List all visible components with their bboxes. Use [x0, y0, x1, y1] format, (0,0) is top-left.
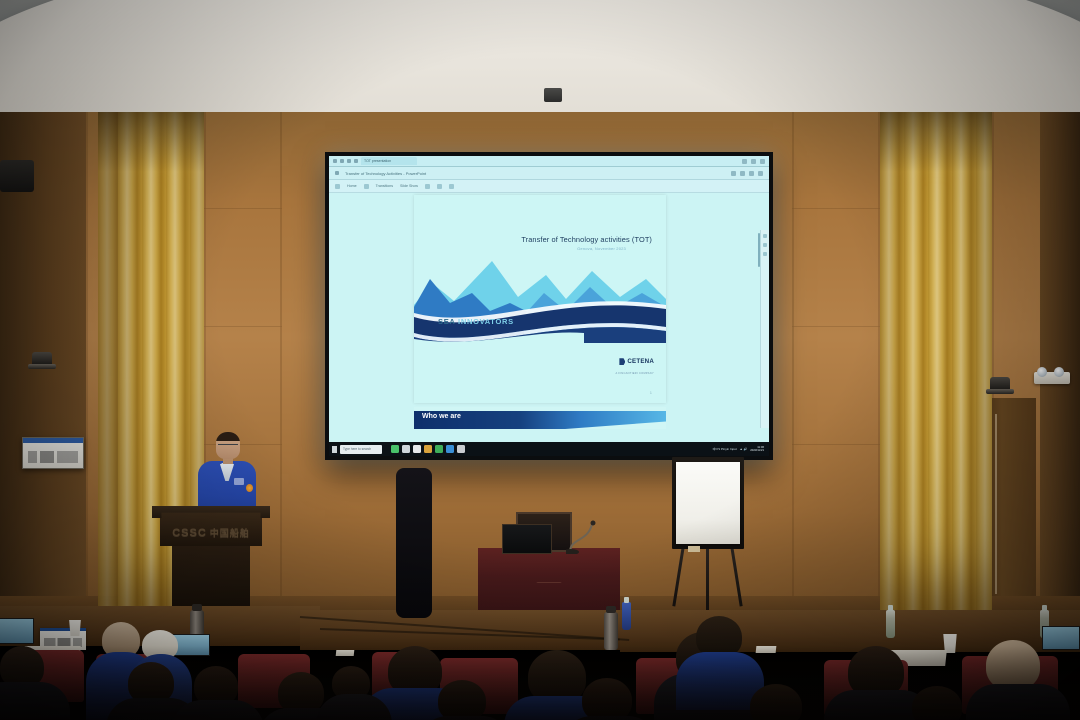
notes-icon[interactable]	[763, 243, 767, 247]
zoom-icon[interactable]	[425, 184, 430, 189]
comments-icon[interactable]	[740, 171, 745, 176]
back-arrow-icon[interactable]	[335, 171, 339, 175]
word-icon[interactable]	[413, 445, 421, 453]
presenter-arm-emblem	[246, 484, 253, 492]
audience-shoulders	[966, 684, 1070, 720]
present-icon[interactable]	[749, 171, 754, 176]
right-tool-rail	[760, 230, 769, 428]
ceiling-projector	[544, 88, 562, 102]
tray-icons[interactable]: ▲ 🔊	[740, 447, 748, 451]
format-icon[interactable]	[449, 184, 454, 189]
mail-icon[interactable]	[424, 445, 432, 453]
chat-icon[interactable]	[457, 445, 465, 453]
wordmark-innovators: INNOVATORS	[458, 317, 514, 326]
window-controls	[742, 159, 765, 164]
flipchart-easel	[668, 457, 748, 607]
taskbar-search-input[interactable]: Type here to search	[340, 445, 382, 454]
presenter-glasses	[218, 444, 238, 448]
window-tab[interactable]: TOT presentation	[361, 157, 417, 165]
audience-head	[750, 684, 802, 720]
slide-editing-area: Transfer of Technology activities (TOT) …	[329, 193, 769, 442]
explorer-icon[interactable]	[391, 445, 399, 453]
wall-notice-text-lines	[28, 451, 78, 463]
slide-wordmark: SEA INNOVATORS	[438, 317, 514, 326]
windows-taskbar: Type here to search 中 P1 Pinyin Input ▲ …	[329, 442, 769, 456]
cetena-logo: CETENA A FINCANTIERI COMPANY	[615, 353, 654, 375]
audience-head	[582, 678, 632, 720]
shapes-icon[interactable]	[437, 184, 442, 189]
taskbar-app-icons	[391, 445, 465, 453]
conference-hall-photo: TOT presentation Transfer of Technology …	[0, 0, 1080, 720]
window-icon	[333, 159, 337, 163]
emergency-lamp-bulb	[1037, 367, 1047, 377]
audience-head	[438, 680, 486, 720]
podium-front-panel: CSSC中国船舶	[160, 512, 262, 546]
powerpoint-icon[interactable]	[402, 445, 410, 453]
start-button-icon[interactable]	[332, 446, 337, 453]
projection-screen: TOT presentation Transfer of Technology …	[325, 152, 773, 460]
water-bottle	[886, 610, 895, 638]
clock-date: 2023/11/21	[750, 448, 764, 452]
audience-area	[0, 588, 1080, 720]
save-icon[interactable]	[347, 159, 351, 163]
wordmark-sea: SEA	[438, 317, 455, 326]
vertical-scrollbar[interactable]	[758, 233, 760, 267]
emergency-light	[1034, 372, 1070, 384]
podium-logo-text: CSSC中国船舶	[160, 526, 262, 539]
curtain-right	[880, 112, 992, 620]
ribbon-toolbar: Home Transitions Slide Show	[329, 180, 769, 193]
curtain-top-shadow	[98, 112, 204, 172]
docbar-actions	[731, 171, 763, 176]
document-title: Transfer of Technology Activities - Powe…	[345, 171, 426, 176]
wall-camera-right	[990, 377, 1010, 390]
ribbon-tab-transitions[interactable]: Transitions	[376, 184, 393, 188]
presenter-pocket-badge	[234, 478, 244, 485]
ribbon-tab-slideshow[interactable]: Slide Show	[400, 184, 418, 188]
wall-notice-frame	[22, 437, 84, 469]
easel-marker-tray	[688, 546, 700, 552]
slide-title: Transfer of Technology activities (TOT)	[414, 235, 652, 244]
file-menu-icon[interactable]	[335, 184, 340, 189]
document-title-bar: Transfer of Technology Activities - Powe…	[329, 167, 769, 180]
media-icon[interactable]	[435, 445, 443, 453]
maximize-button[interactable]	[751, 159, 756, 164]
flipchart-paper	[676, 462, 740, 544]
monitor-front	[502, 524, 552, 554]
share-icon[interactable]	[731, 171, 736, 176]
ime-indicator[interactable]: 中 P1 Pinyin Input	[713, 447, 737, 451]
projected-desktop: TOT presentation Transfer of Technology …	[329, 156, 769, 456]
app-title-bar: TOT presentation	[329, 156, 769, 167]
account-avatar[interactable]	[758, 171, 763, 176]
quick-access-icon	[340, 159, 344, 163]
cetena-name: CETENA	[627, 358, 654, 365]
wall-speaker-cabinet	[0, 160, 34, 192]
laptop-left	[0, 618, 34, 644]
next-slide-title: Who we are	[422, 413, 461, 420]
insert-icon[interactable]	[364, 184, 369, 189]
emergency-lamp-bulb	[1054, 367, 1064, 377]
wave-graphic	[414, 253, 666, 343]
minimize-button[interactable]	[742, 159, 747, 164]
desk-item	[756, 646, 777, 653]
next-slide-preview[interactable]: Who we are	[414, 407, 666, 429]
desk-item	[336, 650, 355, 656]
right-wall-segment	[1040, 112, 1080, 620]
browser-icon[interactable]	[446, 445, 454, 453]
slide-number: 1	[650, 390, 652, 395]
ribbon-tab-home[interactable]: Home	[347, 184, 357, 188]
system-tray: 中 P1 Pinyin Input ▲ 🔊 11:06 2023/11/21	[713, 446, 766, 452]
laptop-right	[1042, 626, 1080, 650]
undo-icon[interactable]	[354, 159, 358, 163]
curtain-top-shadow	[880, 112, 992, 172]
designer-icon[interactable]	[763, 234, 767, 238]
thermos-flask	[604, 612, 618, 650]
comments-rail-icon[interactable]	[763, 252, 767, 256]
audience-head	[912, 686, 962, 720]
water-bottle	[622, 602, 631, 630]
cetena-mark-icon	[619, 358, 625, 365]
taskbar-clock[interactable]: 11:06 2023/11/21	[750, 446, 764, 452]
cetena-tagline: A FINCANTIERI COMPANY	[615, 372, 654, 375]
current-slide[interactable]: Transfer of Technology activities (TOT) …	[414, 195, 666, 403]
standing-attendee-body	[396, 468, 432, 618]
close-button[interactable]	[760, 159, 765, 164]
audience-head-bald	[986, 640, 1040, 690]
slide-subtitle: Genova, November 2023	[414, 246, 626, 251]
wall-camera-left	[32, 352, 52, 365]
gooseneck-microphone	[566, 520, 598, 554]
